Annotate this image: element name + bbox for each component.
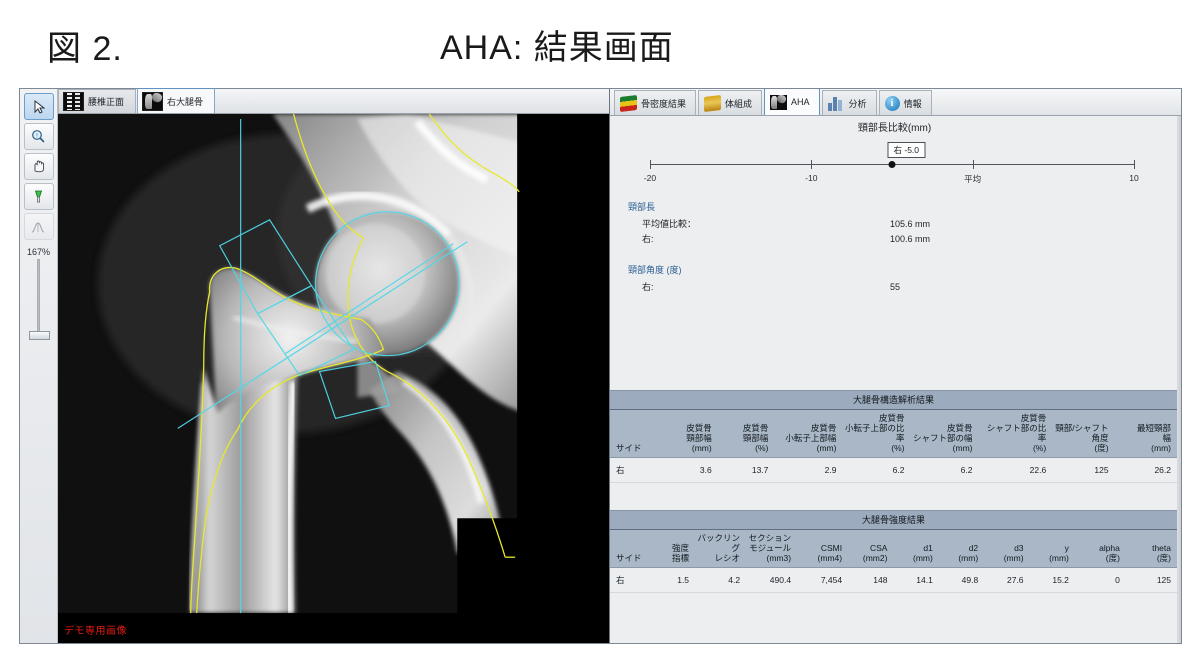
cell-value: 148 <box>848 568 893 593</box>
figure-number: 図 2. <box>47 21 123 70</box>
cursor-arrow-icon <box>32 100 46 114</box>
neck-length-comparison-chart: 頸部長比較(mm) -20 -10 平均 10 右 -5.0 <box>610 116 1179 194</box>
results-tabstrip: 骨密度結果 体組成 AHA 分析 <box>610 89 1181 116</box>
col-cortical-shaft-ratio-pct: 皮質骨シャフト部の比率(%) <box>979 410 1053 458</box>
femur-thumbnail-icon <box>142 92 163 111</box>
col-side: サイド <box>610 530 655 568</box>
tab-label: 体組成 <box>725 97 752 110</box>
structure-grid: サイド 皮質骨頸部幅(mm) 皮質骨頸部幅(%) 皮質骨小転子上部幅(mm) 皮… <box>610 410 1177 483</box>
tab-body-composition[interactable]: 体組成 <box>698 90 762 115</box>
tab-information[interactable]: i 情報 <box>879 90 932 115</box>
scan-tab-label: 右大腿骨 <box>167 95 203 108</box>
tab-label: 分析 <box>849 97 867 110</box>
tab-aha[interactable]: AHA <box>764 89 820 115</box>
table-row[interactable]: 右 3.6 13.7 2.9 6.2 6.2 22.6 125 26.2 <box>610 458 1177 483</box>
scan-tab-right-femur[interactable]: 右大腿骨 <box>137 88 215 113</box>
col-alpha: alpha(度) <box>1075 530 1126 568</box>
col-neck-shaft-angle: 頸部/シャフト角度(度) <box>1052 410 1114 458</box>
zoom-tool-button[interactable]: ! <box>24 123 54 150</box>
cell-value: 2.9 <box>774 458 842 483</box>
col-buckling-ratio: バックリングレシオ <box>695 530 746 568</box>
row-value: 55 <box>890 280 900 295</box>
axis-tick-label: -20 <box>644 173 656 183</box>
cell-side: 右 <box>610 568 655 593</box>
col-side: サイド <box>610 410 655 458</box>
zoom-level-label: 167% <box>20 247 57 257</box>
image-toolbar: ! <box>20 89 58 643</box>
hip-dxa-scan-image <box>58 114 609 643</box>
bone-tool-button[interactable] <box>24 183 54 210</box>
col-cortical-neck-width-mm: 皮質骨頸部幅(mm) <box>655 410 717 458</box>
tab-label: 骨密度結果 <box>641 97 686 110</box>
cell-value: 27.6 <box>984 568 1029 593</box>
dxa-scan-canvas[interactable]: デモ専用画像 <box>58 114 609 643</box>
pan-tool-button[interactable] <box>24 153 54 180</box>
col-csmi: CSMI(mm4) <box>797 530 848 568</box>
demo-image-watermark: デモ専用画像 <box>64 622 127 637</box>
row-key: 右: <box>628 280 890 295</box>
axis-tick <box>811 160 812 169</box>
cell-value: 3.6 <box>655 458 717 483</box>
zoom-slider-thumb[interactable] <box>29 331 50 340</box>
bmd-icon <box>620 94 637 111</box>
figure-caption: 図 2. AHA: 結果画面 <box>0 0 1197 88</box>
neck-length-block: 頸部長 平均値比較： 105.6 mm 右: 100.6 mm <box>610 200 1179 247</box>
neck-angle-heading: 頸部角度 (度) <box>628 263 1179 276</box>
cell-value: 4.2 <box>695 568 746 593</box>
aha-hip-icon <box>770 95 787 110</box>
profile-curve-tool-button[interactable] <box>24 213 54 240</box>
neck-length-marker-label: 右 -5.0 <box>887 142 925 158</box>
cell-value: 14.1 <box>893 568 938 593</box>
figure-title: AHA: 結果画面 <box>440 20 674 69</box>
tab-label: AHA <box>791 97 810 107</box>
chart-title: 頸部長比較(mm) <box>610 119 1179 134</box>
col-strength-index: 強度指標 <box>655 530 695 568</box>
cell-value: 7,454 <box>797 568 848 593</box>
neck-angle-block: 頸部角度 (度) 右: 55 <box>610 263 1179 295</box>
table-row[interactable]: 右 1.5 4.2 490.4 7,454 148 14.1 49.8 27.6… <box>610 568 1177 593</box>
pointer-tool-button[interactable] <box>24 93 54 120</box>
bone-marker-icon <box>31 189 46 204</box>
table-header-row: サイド 皮質骨頸部幅(mm) 皮質骨頸部幅(%) 皮質骨小転子上部幅(mm) 皮… <box>610 410 1177 458</box>
col-cortical-trochanter-ratio-pct: 皮質骨小転子上部の比率(%) <box>842 410 910 458</box>
cell-value: 6.2 <box>910 458 978 483</box>
femur-structure-table: 大腿骨構造解析結果 サイド 皮質骨頸部幅(mm) 皮質骨頸部幅(%) 皮質骨小転… <box>610 390 1177 483</box>
row-value: 105.6 mm <box>890 217 930 232</box>
cell-value: 0 <box>1075 568 1126 593</box>
cell-value: 26.2 <box>1115 458 1177 483</box>
neck-length-row: 平均値比較： 105.6 mm <box>628 217 1179 232</box>
axis-tick <box>1134 160 1135 169</box>
axis-tick-label: -10 <box>805 173 817 183</box>
col-section-modulus: セクションモジュール(mm3) <box>746 530 797 568</box>
cell-value: 49.8 <box>939 568 984 593</box>
cell-value: 1.5 <box>655 568 695 593</box>
row-value: 100.6 mm <box>890 232 930 247</box>
scan-tabstrip: 腰椎正面 右大腿骨 <box>20 89 609 114</box>
col-d1: d1(mm) <box>893 530 938 568</box>
hand-icon <box>31 159 46 174</box>
cell-value: 22.6 <box>979 458 1053 483</box>
cell-value: 125 <box>1126 568 1177 593</box>
neck-angle-row: 右: 55 <box>628 280 1179 295</box>
strength-grid: サイド 強度指標 バックリングレシオ セクションモジュール(mm3) CSMI(… <box>610 530 1177 593</box>
neck-length-marker <box>889 161 896 168</box>
scan-tab-label: 腰椎正面 <box>88 95 124 108</box>
tab-label: 情報 <box>904 97 922 110</box>
screenshot-root: 図 2. AHA: 結果画面 腰椎正面 右大腿骨 <box>0 0 1197 656</box>
row-key: 右: <box>628 232 890 247</box>
curve-graph-icon <box>31 220 47 234</box>
femur-strength-table: 大腿骨強度結果 サイド 強度指標 バックリングレシオ <box>610 510 1177 593</box>
tab-analysis[interactable]: 分析 <box>822 90 877 115</box>
cell-value: 125 <box>1052 458 1114 483</box>
row-key: 平均値比較： <box>628 217 890 232</box>
neck-length-heading: 頸部長 <box>628 200 1179 213</box>
results-panel: 骨密度結果 体組成 AHA 分析 <box>610 89 1181 643</box>
axis-tick <box>973 160 974 169</box>
col-cortical-trochanter-width-mm: 皮質骨小転子上部幅(mm) <box>774 410 842 458</box>
col-cortical-shaft-width-mm: 皮質骨シャフト部の幅(mm) <box>910 410 978 458</box>
axis-tick <box>650 160 651 169</box>
col-d3: d3(mm) <box>984 530 1029 568</box>
application-window: 腰椎正面 右大腿骨 ! <box>19 88 1182 644</box>
scan-image-panel: 腰椎正面 右大腿骨 ! <box>20 89 610 643</box>
table-header-row: サイド 強度指標 バックリングレシオ セクションモジュール(mm3) CSMI(… <box>610 530 1177 568</box>
cell-value: 15.2 <box>1030 568 1075 593</box>
bar-chart-icon <box>828 96 845 111</box>
body-composition-icon <box>704 94 721 111</box>
cell-value: 490.4 <box>746 568 797 593</box>
neck-length-row: 右: 100.6 mm <box>628 232 1179 247</box>
col-csa: CSA(mm2) <box>848 530 893 568</box>
table-title: 大腿骨構造解析結果 <box>610 390 1177 410</box>
aha-results-content: 頸部長比較(mm) -20 -10 平均 10 右 -5.0 <box>610 116 1181 643</box>
scan-tab-lumbar-ap[interactable]: 腰椎正面 <box>58 89 136 113</box>
axis-tick-label: 10 <box>1129 173 1138 183</box>
axis-tick-label: 平均 <box>964 173 981 185</box>
table-title: 大腿骨強度結果 <box>610 510 1177 530</box>
spine-thumbnail-icon <box>63 92 84 111</box>
col-cortical-neck-width-pct: 皮質骨頸部幅(%) <box>718 410 775 458</box>
col-min-neck-width: 最短頸部幅(mm) <box>1115 410 1177 458</box>
cell-value: 6.2 <box>842 458 910 483</box>
col-theta: theta(度) <box>1126 530 1177 568</box>
cell-side: 右 <box>610 458 655 483</box>
info-icon: i <box>885 96 900 111</box>
tab-bone-density-results[interactable]: 骨密度結果 <box>614 90 696 115</box>
col-d2: d2(mm) <box>939 530 984 568</box>
zoom-slider[interactable] <box>37 259 40 337</box>
col-y: y(mm) <box>1030 530 1075 568</box>
vertical-scroll-gutter[interactable] <box>1177 116 1179 643</box>
chart-axis: -20 -10 平均 10 右 -5.0 <box>650 164 1134 165</box>
magnifier-icon: ! <box>31 129 46 144</box>
cell-value: 13.7 <box>718 458 775 483</box>
